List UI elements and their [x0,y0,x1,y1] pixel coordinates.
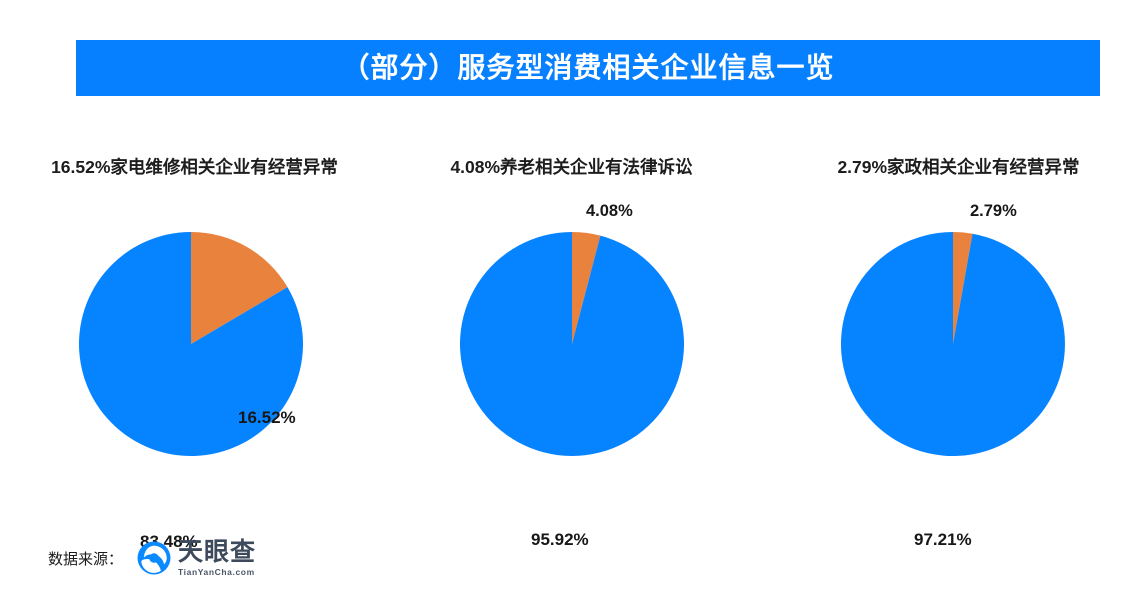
tianyancha-logo-text: 天眼查 TianYanCha.com [178,540,256,577]
tianyancha-logo-en: TianYanCha.com [178,568,256,577]
pie-chart-2: 4.08%养老相关企业有法律诉讼 4.08% 95.92% [381,140,762,480]
pie-chart-2-title: 4.08%养老相关企业有法律诉讼 [381,154,762,179]
pie-chart-1: 16.52%家电维修相关企业有经营异常 16.52% 83.48% [0,140,381,480]
pie-chart-3-svg [841,232,1065,456]
pie-2-label-orange: 4.08% [586,202,633,221]
pie-chart-3-graphic [841,232,1065,456]
pie-chart-2-graphic [460,232,684,456]
tianyancha-eye-logo-icon [137,541,171,575]
pie-1-label-orange: 16.52% [238,408,296,428]
data-source-label: 数据来源： [48,548,123,569]
pie-chart-row: 16.52%家电维修相关企业有经营异常 16.52% 83.48% 4.08%养… [0,140,1145,480]
pie-chart-3: 2.79%家政相关企业有经营异常 2.79% 97.21% [762,140,1143,480]
pie-3-label-blue: 97.21% [914,530,972,550]
tianyancha-logo: 天眼查 TianYanCha.com [137,540,256,577]
pie-chart-2-svg [460,232,684,456]
pie-chart-1-title: 16.52%家电维修相关企业有经营异常 [0,154,385,179]
tianyancha-logo-cn: 天眼查 [178,540,256,565]
pie-3-label-orange: 2.79% [970,202,1017,221]
page-title-banner: （部分）服务型消费相关企业信息一览 [76,40,1100,96]
data-source-footer: 数据来源： 天眼查 TianYanCha.com [48,538,256,578]
pie-chart-3-title: 2.79%家政相关企业有经营异常 [762,154,1145,179]
pie-2-label-blue: 95.92% [531,530,589,550]
page-title: （部分）服务型消费相关企业信息一览 [341,54,834,82]
pie-3-slice-1 [841,232,1065,456]
